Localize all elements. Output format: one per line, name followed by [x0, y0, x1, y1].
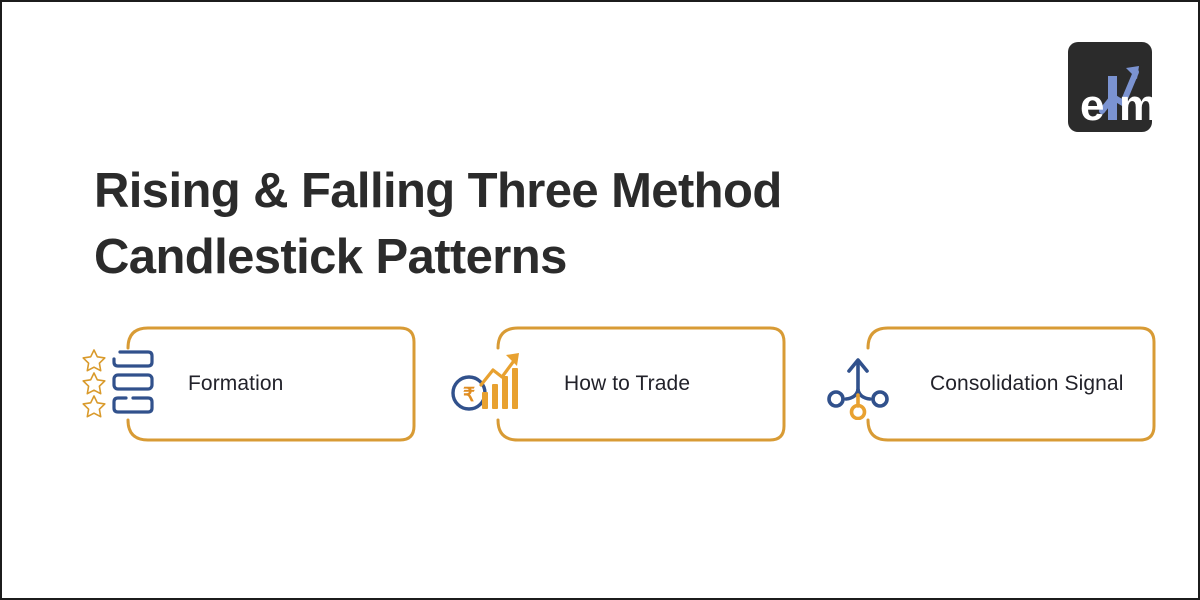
feature-card-consolidation-signal[interactable]: Consolidation Signal — [820, 322, 1160, 446]
stars-list-icon — [80, 348, 156, 420]
page-title-line-1: Rising & Falling Three Method — [94, 159, 974, 225]
logo-letter-e: e — [1080, 81, 1104, 130]
feature-card-how-to-trade[interactable]: ₹ How to Trade — [450, 322, 790, 446]
page-title-line-2: Candlestick Patterns — [94, 225, 974, 291]
star-glyphs — [83, 350, 105, 417]
feature-card-row: Formation ₹ — [80, 320, 1160, 448]
svg-text:₹: ₹ — [463, 385, 475, 406]
card-label: Consolidation Signal — [930, 322, 1148, 446]
list-bar-glyphs — [114, 352, 152, 412]
rupee-coin-icon: ₹ — [453, 377, 485, 409]
feature-card-formation[interactable]: Formation — [80, 322, 420, 446]
logo-letter-m: m — [1119, 81, 1152, 130]
card-label: How to Trade — [564, 322, 778, 446]
card-label: Formation — [188, 322, 408, 446]
infographic-banner: e m Rising & Falling Three Method Candle… — [0, 0, 1200, 600]
rupee-growth-chart-icon: ₹ — [450, 348, 526, 420]
merge-nodes-icon — [820, 348, 896, 420]
elm-logo[interactable]: e m — [1068, 42, 1152, 132]
logo-letter-l — [1108, 76, 1117, 120]
page-title: Rising & Falling Three Method Candlestic… — [94, 159, 974, 290]
